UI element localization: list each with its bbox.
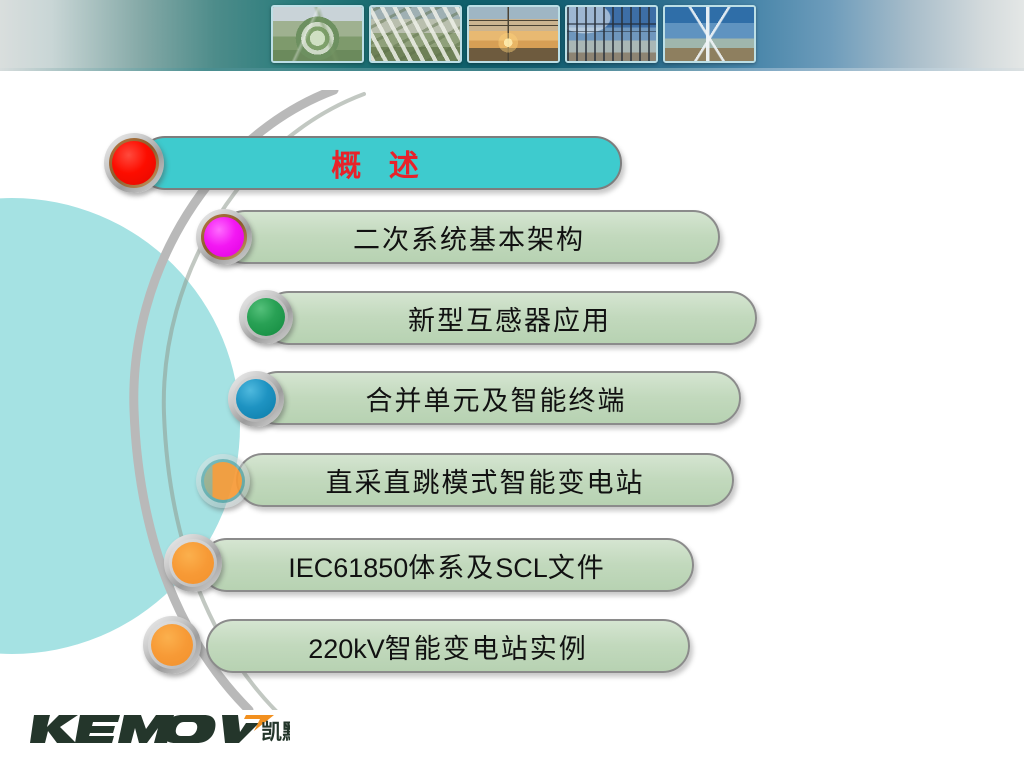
agenda-knob-1-red-circle[interactable]: [104, 133, 164, 193]
agenda-label-6-han-mid: 体系及: [408, 553, 495, 583]
knob-core: [236, 379, 276, 419]
agenda-label-7: 220kV智能变电站实例: [308, 627, 588, 666]
thumbnail-wind-turbine: [663, 5, 756, 63]
knob-core: [204, 462, 242, 500]
agenda-label-4: 合并单元及智能终端: [366, 379, 627, 418]
slide-canvas: 概 述 二次系统基本架构 新型互感器应用 合并单元及智能终端 直采直跳模式智能变…: [0, 0, 1024, 768]
agenda-label-1: 概 述: [331, 141, 429, 185]
agenda-knob-6-orange-circle[interactable]: [164, 534, 222, 592]
kemov-logo-graphic: 凯默: [30, 707, 290, 751]
knob-core: [151, 624, 193, 666]
agenda-label-3: 新型互感器应用: [408, 299, 611, 338]
thumbnail-aerial-city-park: [271, 5, 364, 63]
agenda-label-7-han-suffix: 智能变电站实例: [385, 634, 588, 664]
agenda-knob-7-orange-circle[interactable]: [143, 616, 201, 674]
agenda-knob-4-blue-circle[interactable]: [228, 371, 284, 427]
agenda-label-5: 直采直跳模式智能变电站: [326, 461, 645, 500]
agenda-label-6: IEC61850体系及SCL文件: [288, 546, 606, 585]
agenda-label-2: 二次系统基本架构: [353, 218, 585, 257]
agenda-pill-1[interactable]: 概 述: [138, 136, 622, 190]
agenda-knob-5-orange-circle[interactable]: [196, 454, 250, 508]
kemov-logo-wordmark: [30, 715, 259, 743]
agenda-pill-6[interactable]: IEC61850体系及SCL文件: [200, 538, 694, 592]
agenda-pill-5[interactable]: 直采直跳模式智能变电站: [236, 453, 734, 507]
knob-core: [112, 141, 156, 185]
agenda-label-6-latin-mid: SCL: [495, 553, 548, 583]
thumbnail-transmission-pylon-sunset: [467, 5, 560, 63]
thumbnail-city-model-blocks: [369, 5, 462, 63]
agenda-label-6-han-suffix: 文件: [548, 553, 606, 583]
agenda-pill-7[interactable]: 220kV智能变电站实例: [206, 619, 690, 673]
agenda-knob-2-magenta-circle[interactable]: [196, 209, 252, 265]
kemov-logo: 凯默: [30, 706, 290, 752]
agenda-pill-2[interactable]: 二次系统基本架构: [218, 210, 720, 264]
agenda-label-7-latin-prefix: 220kV: [308, 634, 385, 664]
agenda-label-6-latin-prefix: IEC61850: [288, 553, 408, 583]
agenda-pill-3[interactable]: 新型互感器应用: [262, 291, 757, 345]
knob-core: [247, 298, 285, 336]
thumbnail-substation-switchyard: [565, 5, 658, 63]
kemov-logo-cn-text: 凯默: [261, 720, 290, 744]
agenda-knob-3-green-circle[interactable]: [239, 290, 293, 344]
knob-core: [172, 542, 214, 584]
knob-core: [204, 217, 244, 257]
agenda-pill-4[interactable]: 合并单元及智能终端: [251, 371, 741, 425]
banner-underline: [0, 68, 1024, 71]
